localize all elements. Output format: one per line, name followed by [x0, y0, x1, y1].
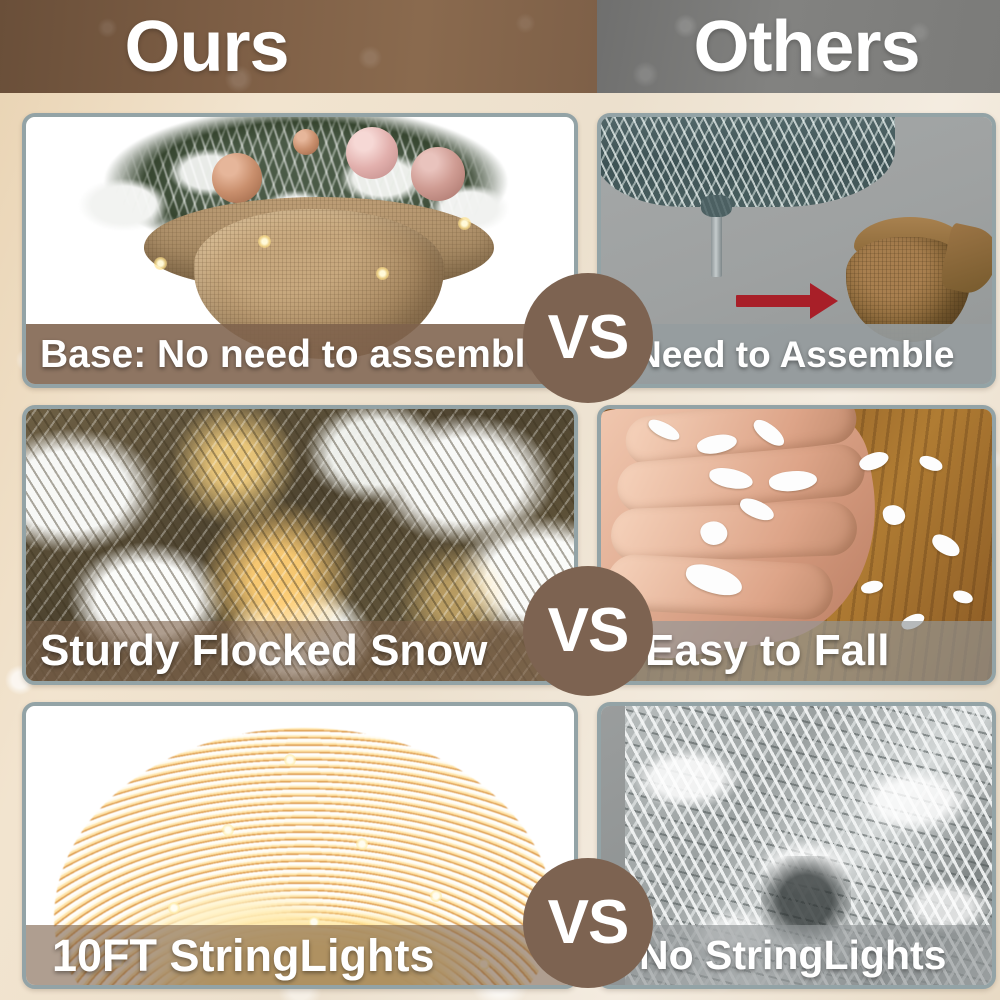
ours-label-text: Sturdy Flocked Snow: [26, 629, 487, 673]
comparison-header: Ours Others: [0, 0, 1000, 93]
right-arrow-icon: [736, 295, 818, 307]
vs-badge: VS: [523, 273, 653, 403]
header-ours-panel: Ours: [0, 0, 597, 93]
ornament-icon: [411, 147, 465, 201]
ours-label-text: 10FT StringLights: [26, 933, 435, 978]
metal-pole-shape: [711, 205, 722, 277]
comparison-row: Base: No need to assemble Need to Assemb…: [0, 113, 1000, 388]
ours-panel-flocking: Sturdy Flocked Snow: [22, 405, 578, 685]
others-panel-base: Need to Assemble: [597, 113, 996, 388]
others-label-text: Need to Assemble: [601, 336, 954, 373]
vs-badge-text: VS: [548, 307, 629, 369]
header-ours-title: Ours: [124, 11, 288, 83]
others-panel-flocking: Easy to Fall: [597, 405, 996, 685]
light-bulb-icon: [222, 824, 234, 836]
ours-label-text: Base: No need to assemble: [26, 335, 547, 374]
ornament-icon: [212, 153, 262, 203]
comparison-row: Sturdy Flocked Snow: [0, 405, 1000, 685]
light-bulb-icon: [284, 754, 296, 766]
ours-label-bar: Base: No need to assemble: [26, 324, 574, 384]
light-bulb-icon: [356, 838, 368, 850]
right-arrow-icon: [810, 283, 838, 319]
comparison-row: 10FT StringLights No StringLights: [0, 702, 1000, 989]
light-bulb-icon: [376, 267, 389, 280]
ornament-icon: [346, 127, 398, 179]
vs-badge-text: VS: [548, 892, 629, 954]
light-bulb-icon: [458, 217, 471, 230]
ours-panel-base: Base: No need to assemble: [22, 113, 578, 388]
light-bulb-icon: [154, 257, 167, 270]
vs-badge-text: VS: [548, 600, 629, 662]
light-bulb-icon: [430, 890, 442, 902]
comparison-grid: Base: No need to assemble Need to Assemb…: [0, 93, 1000, 1000]
others-label-bar: Need to Assemble: [601, 324, 992, 384]
vs-badge: VS: [523, 566, 653, 696]
header-others-panel: Others: [597, 0, 1000, 93]
ours-label-bar: Sturdy Flocked Snow: [26, 621, 574, 681]
others-panel-lights: No StringLights: [597, 702, 996, 989]
others-label-bar: No StringLights: [601, 925, 992, 985]
pine-branch-shape: [597, 113, 895, 207]
others-label-text: No StringLights: [601, 935, 946, 976]
vs-badge: VS: [523, 858, 653, 988]
light-bulb-icon: [258, 235, 271, 248]
header-others-title: Others: [693, 11, 919, 83]
ours-label-bar: 10FT StringLights: [26, 925, 574, 985]
light-bulb-icon: [168, 902, 180, 914]
finger-shape: [610, 501, 858, 564]
ornament-icon: [293, 129, 319, 155]
others-label-bar: Easy to Fall: [601, 621, 992, 681]
ours-panel-lights: 10FT StringLights: [22, 702, 578, 989]
